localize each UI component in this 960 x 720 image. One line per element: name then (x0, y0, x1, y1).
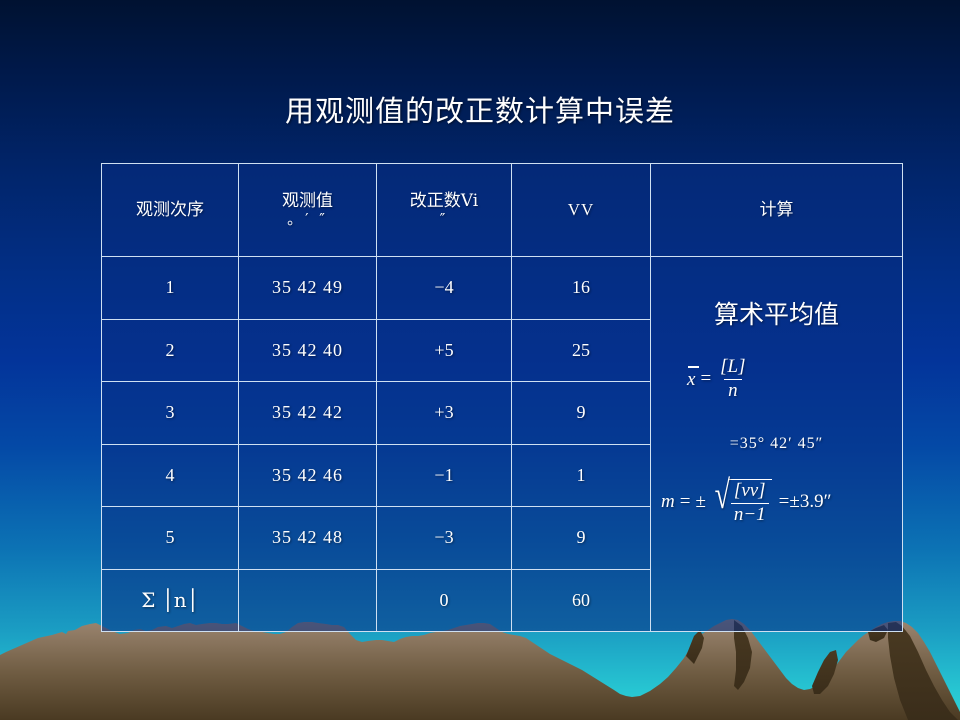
rms-numerator: [vv] (731, 481, 769, 503)
cell-vv: 9 (512, 507, 651, 570)
header-vv-label: VV (568, 200, 595, 219)
rms-equals-sign: = (680, 491, 691, 513)
table-header-row: 观测次序 观测值 。′ ″ 改正数Vi ″ VV 计算 (102, 164, 903, 257)
cell-correction: −4 (377, 257, 512, 320)
cell-vv: 9 (512, 382, 651, 445)
rms-radicand: [vv] n−1 (728, 479, 772, 526)
mean-formula: x = [L] n (687, 357, 750, 402)
cell-correction: +3 (377, 382, 512, 445)
cell-summary-label: Σ │n│ (102, 569, 239, 631)
cell-correction: −3 (377, 507, 512, 570)
cell-observed: 35 42 49 (239, 257, 377, 320)
mean-numerator: [L] (716, 357, 749, 379)
header-sequence-label: 观测次序 (136, 200, 204, 220)
error-calculation-table: 观测次序 观测值 。′ ″ 改正数Vi ″ VV 计算 1 (101, 163, 903, 632)
cell-vv: 25 (512, 319, 651, 382)
cell-vv: 1 (512, 444, 651, 507)
page-title: 用观测值的改正数计算中误差 (0, 88, 960, 130)
square-root-icon: √ [vv] n−1 (708, 479, 772, 526)
header-sequence: 观测次序 (102, 164, 239, 257)
cell-observed: 35 42 42 (239, 382, 377, 445)
cell-sequence: 2 (102, 319, 239, 382)
rms-variable: m (661, 491, 675, 513)
table-row: 1 35 42 49 −4 16 算术平均值 x = (102, 257, 903, 320)
mean-result: =35° 42′ 45″ (651, 435, 902, 453)
rms-result: =±3.9″ (779, 491, 832, 513)
cell-observed: 35 42 48 (239, 507, 377, 570)
cell-summary-observed (239, 569, 377, 631)
cell-summary-correction: 0 (377, 569, 512, 631)
cell-sequence: 5 (102, 507, 239, 570)
header-correction: 改正数Vi ″ (377, 164, 512, 257)
slide-canvas: 用观测值的改正数计算中误差 观测次序 观测值 。′ ″ 改正数Vi ″ (0, 0, 960, 720)
header-vv: VV (512, 164, 651, 257)
cell-observed: 35 42 46 (239, 444, 377, 507)
cell-correction: −1 (377, 444, 512, 507)
cell-calculation: 算术平均值 x = [L] n =35° (651, 257, 903, 632)
mean-fraction: [L] n (716, 357, 749, 402)
cell-correction: +5 (377, 319, 512, 382)
overbar-icon (688, 366, 699, 368)
header-correction-units: ″ (378, 211, 510, 229)
rms-plus-minus: ± (695, 491, 705, 513)
cell-vv: 16 (512, 257, 651, 320)
cell-sequence: 1 (102, 257, 239, 320)
cell-sequence: 3 (102, 382, 239, 445)
header-observed-value-label: 观测值 (240, 191, 375, 211)
cell-summary-vv: 60 (512, 569, 651, 631)
rms-denominator: n−1 (731, 503, 769, 526)
x-bar-variable: x (687, 367, 695, 391)
header-calculation: 计算 (651, 164, 903, 257)
header-observed-value-units: 。′ ″ (240, 211, 375, 229)
header-correction-label: 改正数Vi (378, 191, 510, 211)
header-calculation-label: 计算 (760, 200, 794, 220)
rms-formula: m = ± √ [vv] n−1 =±3.9″ (661, 479, 831, 526)
calculation-heading: 算术平均值 (651, 295, 902, 331)
mean-denominator: n (724, 379, 742, 402)
cell-sequence: 4 (102, 444, 239, 507)
header-observed-value: 观测值 。′ ″ (239, 164, 377, 257)
cell-observed: 35 42 40 (239, 319, 377, 382)
mean-equals-sign: = (700, 368, 711, 390)
